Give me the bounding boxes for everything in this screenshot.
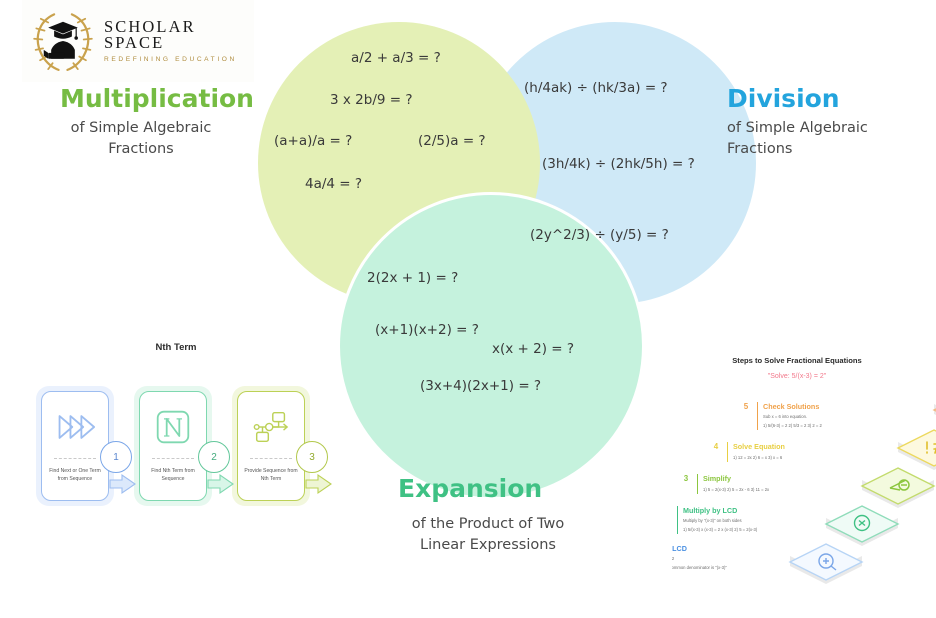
- frac-step-head: Simplify: [703, 474, 769, 483]
- nth-term-step-badge-3: 3: [296, 441, 328, 473]
- frac-step-desc: Sub x = 6 into equation.: [763, 414, 822, 419]
- divider: [54, 458, 96, 459]
- frac-step-body: Find LCD 5/(x-3) = 2 Lowest common denom…: [672, 544, 727, 572]
- brand-wordmark: SCHOLAR SPACE REDEFINING EDUCATION: [104, 19, 254, 64]
- brand-name: SCHOLAR SPACE: [104, 19, 254, 52]
- frac-step-head: Find LCD: [672, 544, 727, 553]
- equation-item: (2y^2/3) ÷ (y/5) = ?: [530, 227, 669, 243]
- staircase-tile-5: [926, 384, 936, 440]
- equation-item: 2(2x + 1) = ?: [367, 270, 458, 286]
- frac-step-number: 4: [710, 442, 722, 451]
- frac-step-3: 3 Simplify 1) 5 = 2(x-3) 2) 5 = 2x - 6 3…: [680, 474, 769, 494]
- equation-item: (a+a)/a = ?: [274, 133, 352, 149]
- step-card-inner: Find Next or One Term from Sequence: [41, 391, 109, 501]
- flowchart-nodes-icon: [238, 406, 304, 448]
- equation-item: (3x+4)(2x+1) = ?: [420, 378, 541, 394]
- nth-term-step-2[interactable]: Find Nth Term from Sequence: [134, 386, 212, 506]
- frac-step-desc: Multiply by "(x-3)" on both sides: [683, 518, 757, 523]
- frac-step-2: 2 Multiply by LCD Multiply by "(x-3)" on…: [672, 506, 757, 534]
- frac-step-lines: Lowest common denominator is "(x-3)": [672, 565, 727, 572]
- frac-step-lines: 1) 5/(x-3) x (x-3) = 2 x (x-3) 2) 5 = 2(…: [683, 527, 757, 534]
- frac-step-body: Solve Equation 1) 12 = 2x 2) 6 = x 3) x …: [727, 442, 785, 462]
- frac-step-head: Check Solutions: [763, 402, 822, 411]
- divider: [152, 458, 194, 459]
- equation-item: (h/4ak) ÷ (hk/3a) = ?: [524, 80, 668, 96]
- graduation-cap-laurel-icon: [26, 4, 100, 78]
- nth-term-widget: Nth Term: [30, 336, 322, 526]
- fractional-equations-subtitle: "Solve: 5/(x-3) = 2": [672, 373, 922, 380]
- arrow-right-icon: [108, 473, 138, 495]
- arrow-right-icon: [304, 473, 334, 495]
- nth-term-step-badge-2: 2: [198, 441, 230, 473]
- frac-step-head: Solve Equation: [733, 442, 785, 451]
- fractional-equations-title: Steps to Solve Fractional Equations: [672, 356, 922, 365]
- section-title-multiplication: Multiplication: [60, 84, 254, 113]
- frac-step-head: Multiply by LCD: [683, 506, 757, 515]
- frac-step-1: 1 Find LCD 5/(x-3) = 2 Lowest common den…: [672, 544, 727, 572]
- nth-term-step-label: Find Next or One Term from Sequence: [46, 468, 104, 483]
- equation-item: 4a/4 = ?: [305, 176, 362, 192]
- frac-step-4: 4 Solve Equation 1) 12 = 2x 2) 6 = x 3) …: [710, 442, 785, 462]
- equation-item: 3 x 2b/9 = ?: [330, 92, 413, 108]
- double-chevron-right-icon: [42, 406, 108, 448]
- frac-step-lines: 1) 5/(6-3) = 2 2) 5/3 = 2 3) 2 = 2: [763, 423, 822, 430]
- equation-item: a/2 + a/3 = ?: [351, 50, 441, 66]
- letter-n-icon: [140, 406, 206, 448]
- equation-item: (3h/4k) ÷ (2hk/5h) = ?: [542, 156, 695, 172]
- equation-item: (2/5)a = ?: [418, 133, 486, 149]
- frac-step-5: 5 Check Solutions Sub x = 6 into equatio…: [740, 402, 822, 430]
- frac-step-number: 3: [680, 474, 692, 483]
- section-title-division: Division: [727, 84, 840, 113]
- nth-term-step-label: Find Nth Term from Sequence: [144, 468, 202, 483]
- section-subtitle-expansion: of the Product of Two Linear Expressions: [388, 514, 588, 556]
- frac-step-number: 5: [740, 402, 752, 411]
- nth-term-step-label: Provide Sequence from Nth Term: [242, 468, 300, 483]
- frac-step-body: Check Solutions Sub x = 6 into equation.…: [757, 402, 822, 430]
- section-subtitle-division: of Simple Algebraic Fractions: [727, 118, 927, 160]
- equation-item: x(x + 2) = ?: [492, 341, 574, 357]
- frac-step-lines: 1) 12 = 2x 2) 6 = x 3) x = 6: [733, 455, 785, 462]
- step-card-inner: Provide Sequence from Nth Term: [237, 391, 305, 501]
- nth-term-step-1[interactable]: Find Next or One Term from Sequence: [36, 386, 114, 506]
- nth-term-step-badge-1: 1: [100, 441, 132, 473]
- equation-item: (x+1)(x+2) = ?: [375, 322, 479, 338]
- slide-canvas: SCHOLAR SPACE REDEFINING EDUCATION a/2 +…: [0, 0, 936, 618]
- frac-step-lines: 1) 5 = 2(x-3) 2) 5 = 2x - 6 3) 11 = 2x: [703, 487, 769, 494]
- brand-tagline: REDEFINING EDUCATION: [104, 57, 254, 64]
- arrow-right-icon: [206, 473, 236, 495]
- brand-logo: SCHOLAR SPACE REDEFINING EDUCATION: [22, 0, 254, 82]
- divider: [250, 458, 292, 459]
- fractional-equations-widget: Steps to Solve Fractional Equations "Sol…: [672, 350, 936, 600]
- section-title-expansion: Expansion: [398, 474, 542, 503]
- frac-step-body: Simplify 1) 5 = 2(x-3) 2) 5 = 2x - 6 3) …: [697, 474, 769, 494]
- nth-term-title: Nth Term: [30, 342, 322, 353]
- frac-step-desc: 5/(x-3) = 2: [672, 556, 727, 561]
- frac-step-body: Multiply by LCD Multiply by "(x-3)" on b…: [677, 506, 757, 534]
- section-subtitle-multiplication: of Simple Algebraic Fractions: [36, 118, 246, 160]
- step-card-inner: Find Nth Term from Sequence: [139, 391, 207, 501]
- nth-term-step-3[interactable]: Provide Sequence from Nth Term: [232, 386, 310, 506]
